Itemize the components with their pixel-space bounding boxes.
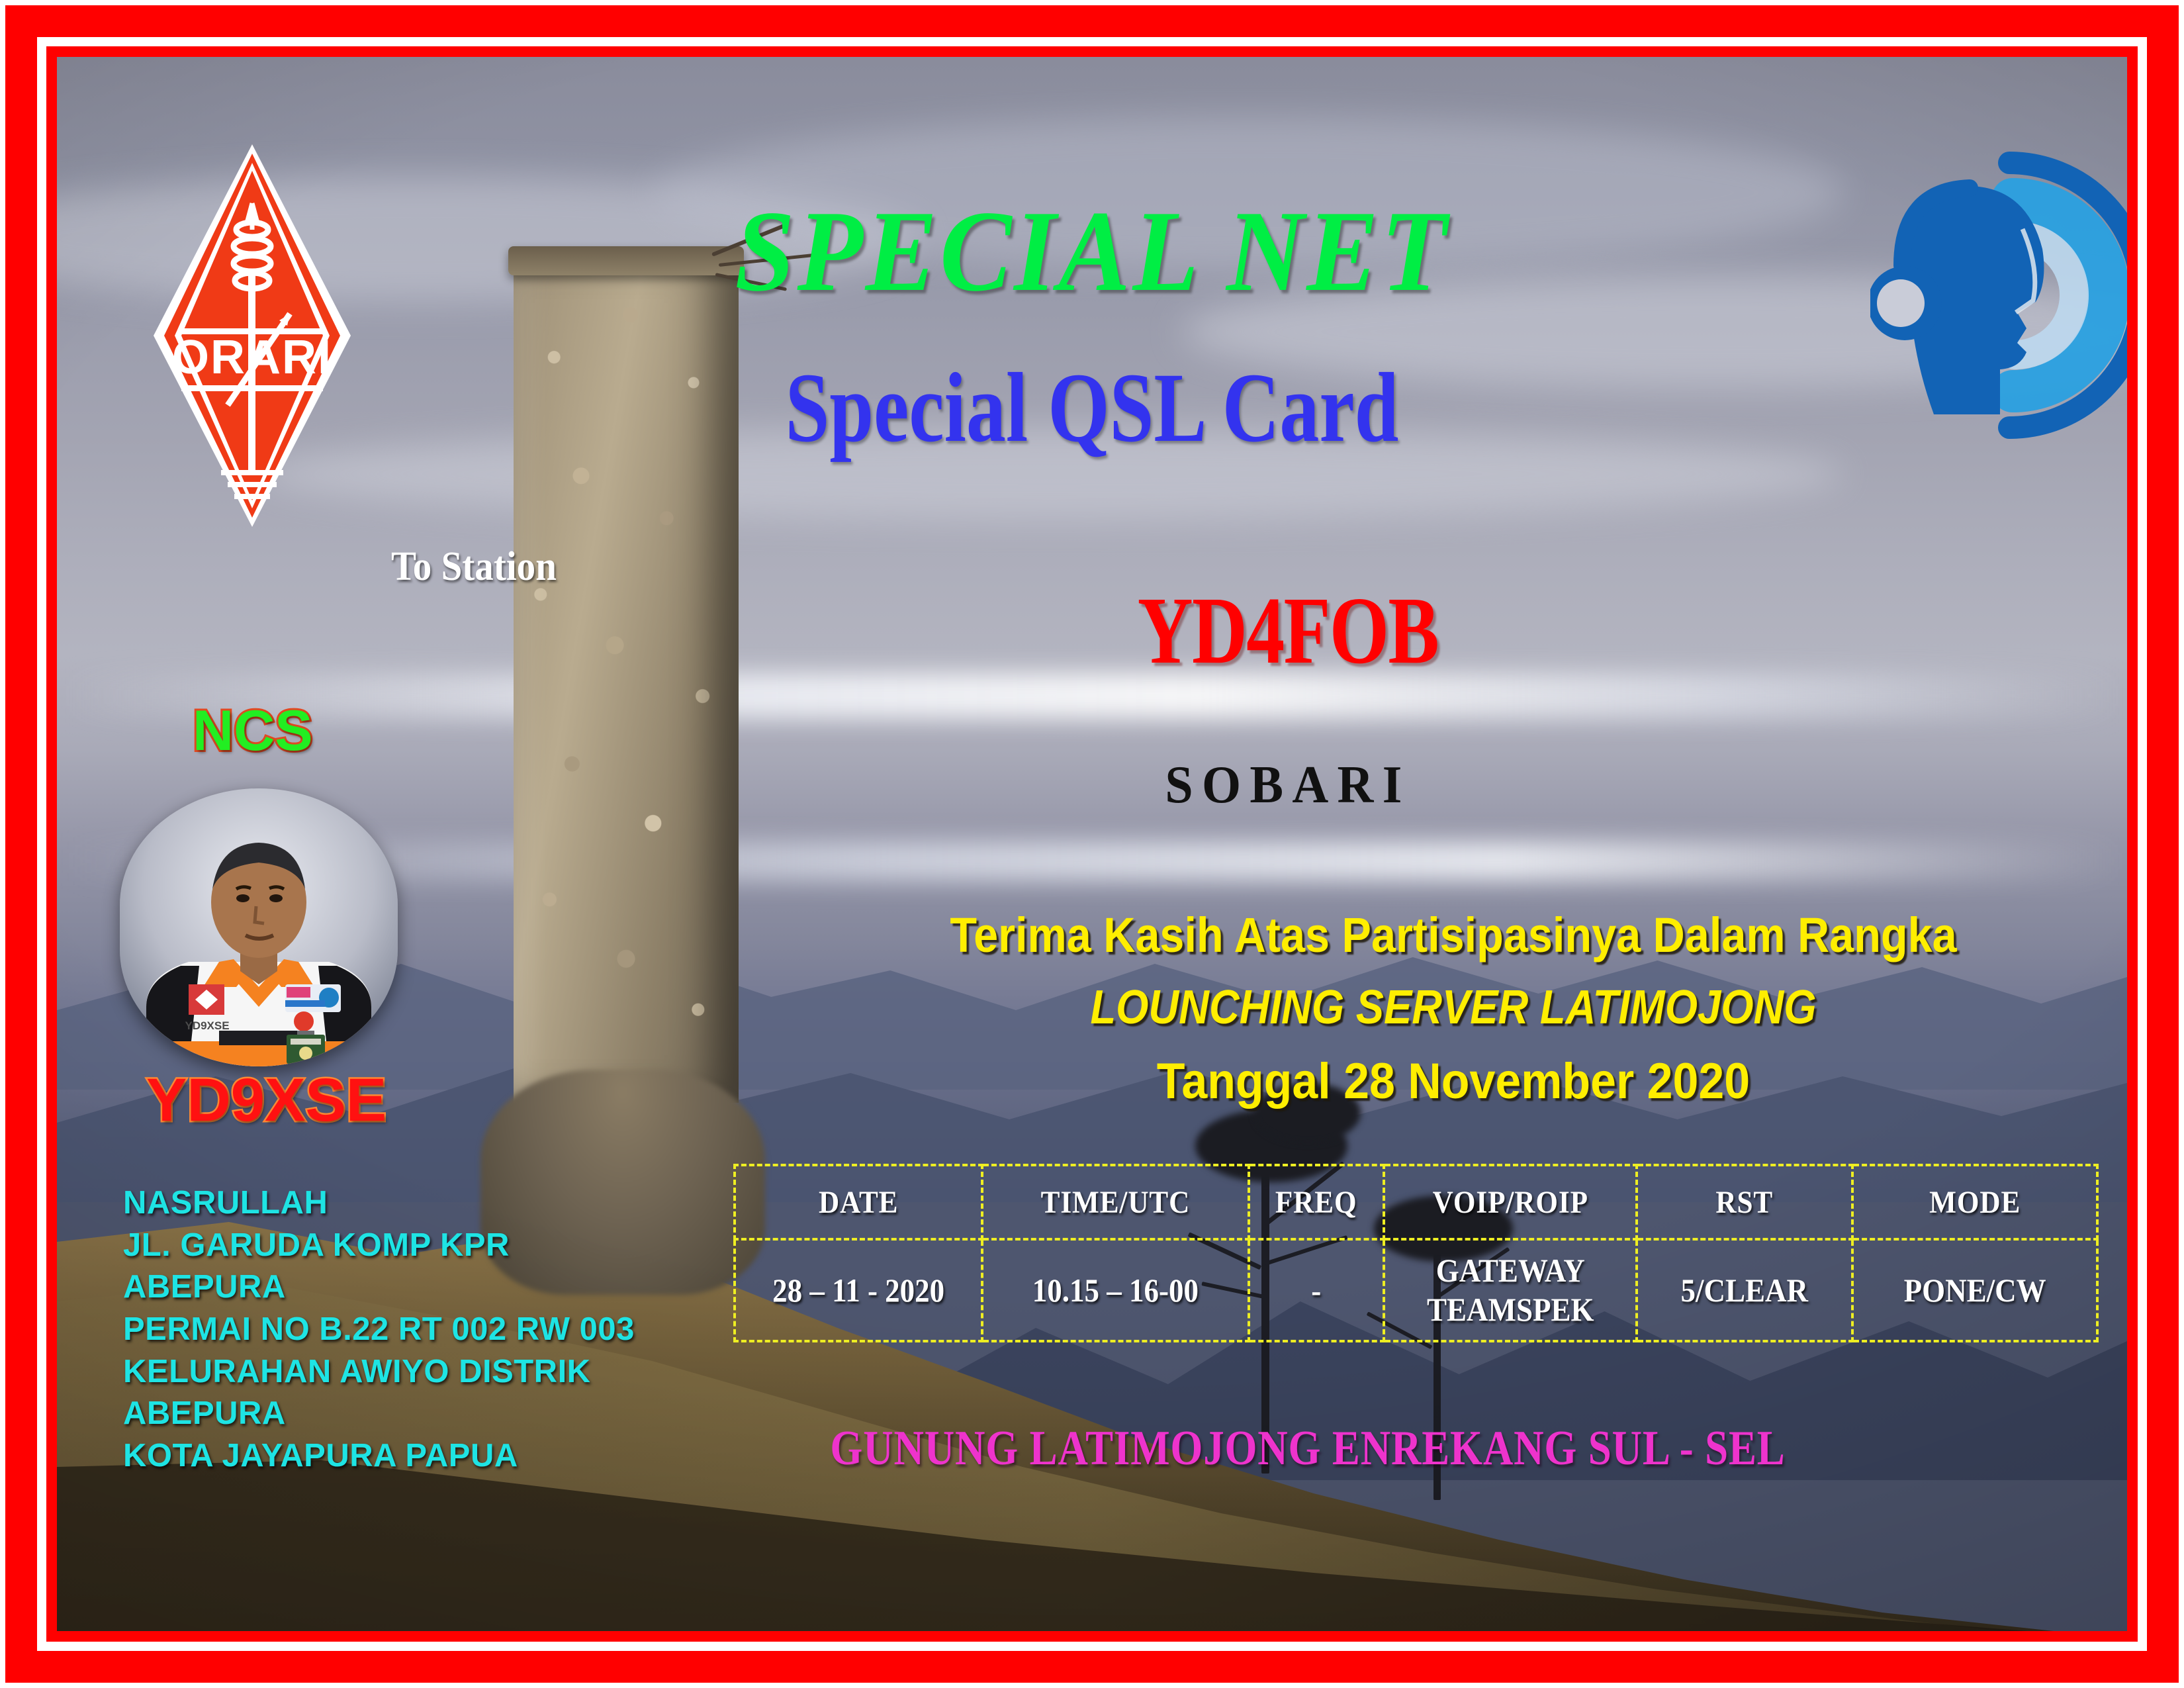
uniform-callsign-patch: YD9XSE: [185, 1019, 229, 1032]
to-station-label: To Station: [391, 543, 557, 590]
page-subtitle: Special QSL Card: [264, 358, 1920, 457]
location-line: GUNUNG LATIMOJONG ENREKANG SUL - SEL: [774, 1424, 1843, 1473]
column-header-voip-roip: VOIP/ROIP: [1396, 1165, 1624, 1239]
table-row: 28 – 11 - 2020 10.15 – 16-00 - GATEWAY T…: [735, 1239, 2097, 1341]
address-line: ABEPURA: [123, 1266, 692, 1309]
column-header-mode: MODE: [1864, 1165, 2085, 1239]
address-line: PERMAI NO B.22 RT 002 RW 003: [123, 1309, 692, 1351]
column-header-date: DATE: [747, 1165, 970, 1239]
address-line: KOTA JAYAPURA PAPUA: [123, 1435, 692, 1477]
qsl-card: ORARI: [0, 0, 2184, 1688]
ncs-callsign: YD9XSE: [146, 1070, 387, 1131]
page-title: SPECIAL NET: [129, 193, 2054, 309]
event-line: LOUNCHING SERVER LATIMOJONG: [865, 984, 2042, 1031]
cell-rst: 5/CLEAR: [1647, 1239, 1841, 1341]
column-header-time-utc: TIME/UTC: [996, 1165, 1236, 1239]
cell-time-utc: 10.15 – 16-00: [996, 1239, 1236, 1341]
station-operator-name: SOBARI: [974, 759, 1602, 812]
address-line: ABEPURA: [123, 1393, 692, 1435]
ncs-operator-photo: YD9XSE: [120, 788, 398, 1066]
event-date-line: Tanggal 28 November 2020: [839, 1056, 2068, 1107]
thanks-line: Terima Kasih Atas Partisipasinya Dalam R…: [852, 911, 2055, 960]
cell-date: 28 – 11 - 2020: [747, 1239, 970, 1341]
address-line: NASRULLAH: [123, 1182, 692, 1225]
column-header-freq: FREQ: [1255, 1165, 1377, 1239]
ncs-label: NCS: [193, 702, 313, 759]
background-photograph: ORARI: [57, 57, 2127, 1631]
cell-freq: -: [1255, 1239, 1377, 1341]
column-header-rst: RST: [1647, 1165, 1841, 1239]
cell-mode: PONE/CW: [1864, 1239, 2085, 1341]
station-callsign: YD4FOB: [1023, 583, 1553, 679]
cell-voip-roip: GATEWAY TEAMSPEK: [1396, 1239, 1624, 1341]
table-header-row: DATE TIME/UTC FREQ VOIP/ROIP RST MODE: [735, 1165, 2097, 1239]
address-line: JL. GARUDA KOMP KPR: [123, 1225, 692, 1267]
qso-details-table: DATE TIME/UTC FREQ VOIP/ROIP RST MODE 28…: [733, 1164, 2099, 1342]
address-line: KELURAHAN AWIYO DISTRIK: [123, 1351, 692, 1393]
address-block: NASRULLAH JL. GARUDA KOMP KPR ABEPURA PE…: [123, 1182, 692, 1477]
